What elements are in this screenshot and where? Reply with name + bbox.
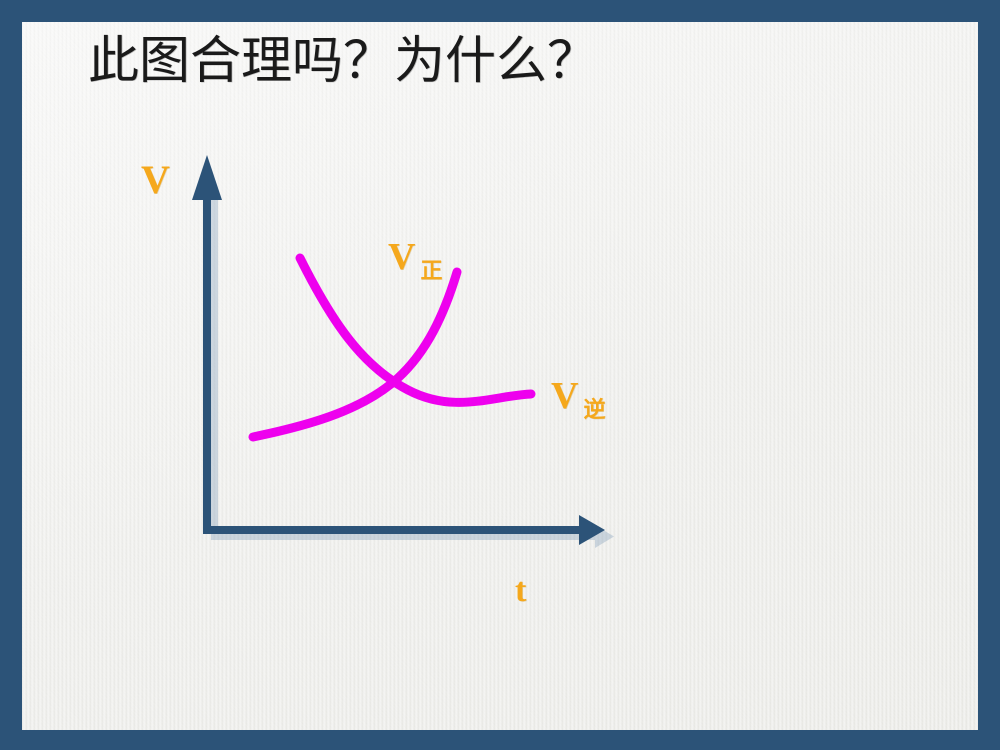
reverse-rate-label-main: V — [551, 375, 578, 417]
reverse-rate-curve — [300, 258, 531, 402]
reverse-rate-label-subscript: 逆 — [583, 397, 605, 423]
y-axis-shadow — [211, 181, 218, 537]
forward-rate-curve-label: V正 — [388, 235, 442, 279]
slide-frame: 此图合理吗？为什么？ — [0, 0, 1000, 750]
x-axis-shaft — [203, 526, 587, 534]
diagram-svg — [22, 22, 978, 730]
forward-rate-label-subscript: 正 — [420, 258, 442, 284]
slide-canvas: 此图合理吗？为什么？ — [22, 22, 978, 730]
y-axis-label: V — [141, 156, 170, 203]
x-axis-label: t — [515, 572, 526, 610]
rate-vs-time-diagram — [22, 22, 978, 730]
x-axis — [203, 515, 605, 545]
forward-rate-label-main: V — [388, 236, 415, 278]
y-axis-arrowhead — [192, 155, 222, 200]
forward-rate-curve — [253, 272, 457, 437]
reverse-rate-curve-label: V逆 — [551, 374, 605, 418]
y-axis-shaft — [203, 194, 211, 534]
